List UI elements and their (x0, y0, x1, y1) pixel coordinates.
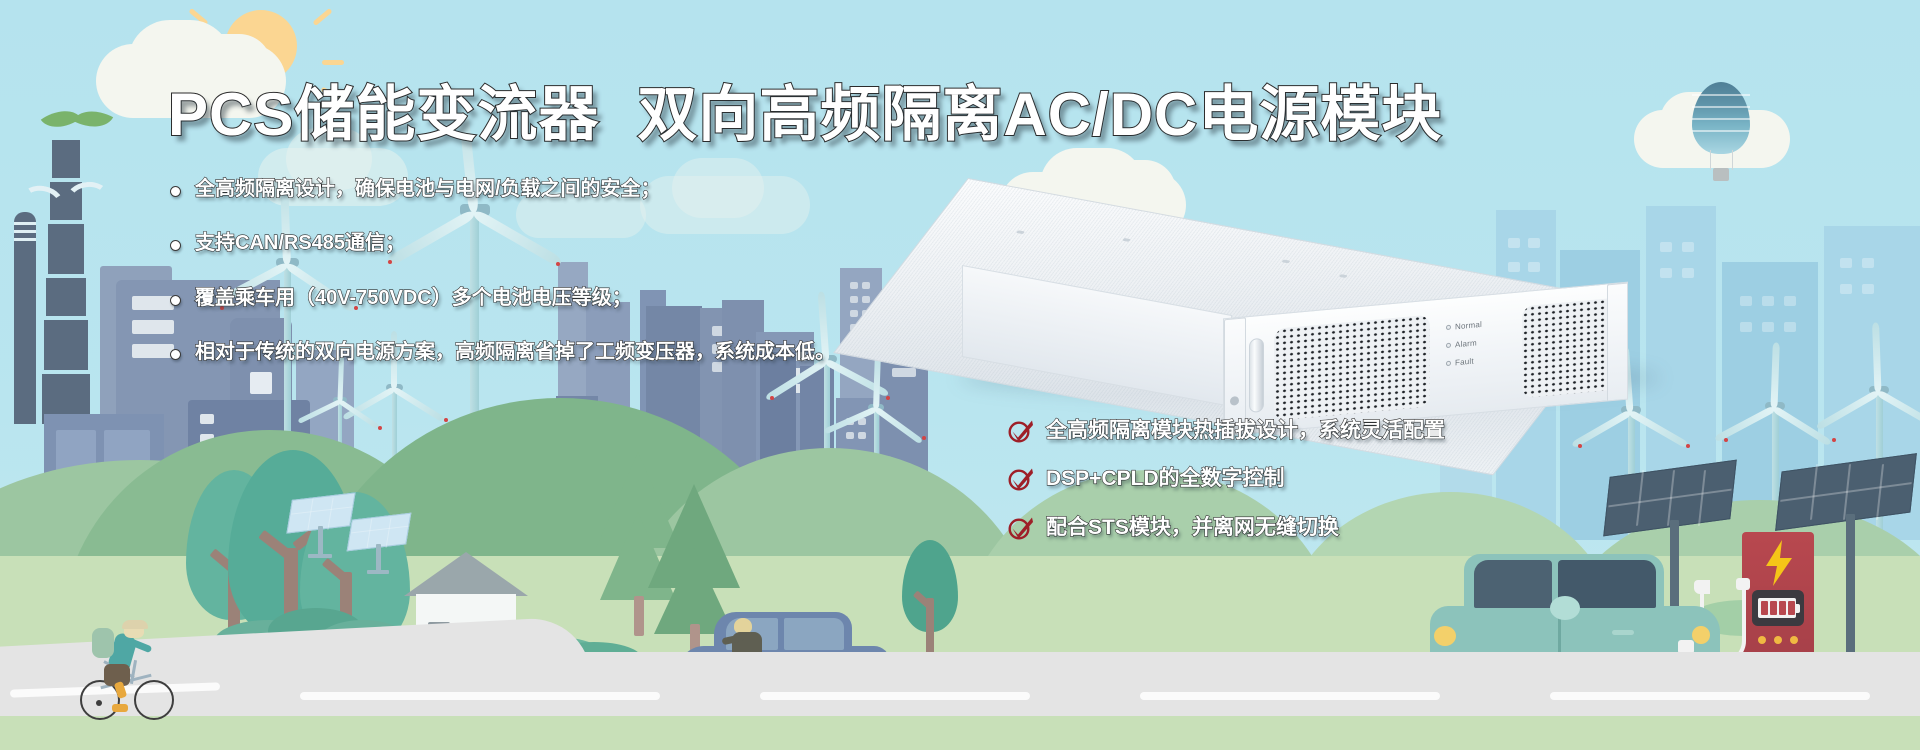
bullet-dot-icon (170, 240, 181, 251)
bullet-dot-icon (170, 349, 181, 360)
feature-list: 全高频隔离设计，确保电池与电网/负载之间的安全； 支持CAN/RS485通信； … (170, 176, 930, 366)
check-circle-icon (1008, 515, 1034, 541)
lightning-bolt-icon (1762, 540, 1796, 586)
promotional-banner: Normal Alarm Fault PCS储能变流器双向高频隔离AC/DC电源… (0, 0, 1920, 750)
check-circle-icon (1008, 418, 1034, 444)
list-item: DSP+CPLD的全数字控制 (1008, 466, 1568, 492)
list-item: 覆盖乘车用（40V-750VDC）多个电池电压等级； (170, 285, 930, 311)
bullet-dot-icon (170, 186, 181, 197)
led-indicator-alarm (1446, 343, 1451, 348)
page-title: PCS储能变流器双向高频隔离AC/DC电源模块 (168, 66, 1442, 153)
bullet-dot-icon (170, 295, 181, 306)
highlight-text: DSP+CPLD的全数字控制 (1046, 466, 1285, 492)
led-indicator-normal (1446, 325, 1451, 330)
highlight-text: 配合STS模块，并离网无缝切换 (1046, 515, 1339, 541)
feature-text: 全高频隔离设计，确保电池与电网/负载之间的安全； (195, 176, 661, 202)
led-label-fault: Fault (1455, 357, 1474, 368)
led-label-alarm: Alarm (1455, 338, 1477, 349)
check-circle-icon (1008, 466, 1034, 492)
list-item: 全高频隔离设计，确保电池与电网/负载之间的安全； (170, 176, 930, 202)
pcs-power-module-image: Normal Alarm Fault (940, 160, 1680, 430)
led-indicator-fault (1446, 361, 1451, 366)
list-item: 相对于传统的双向电源方案，高频隔离省掉了工频变压器，系统成本低。 (170, 339, 930, 365)
list-item: 全高频隔离模块热插拔设计，系统灵活配置 (1008, 418, 1568, 444)
title-part-2: 双向高频隔离AC/DC电源模块 (637, 81, 1442, 148)
highlight-list: 全高频隔离模块热插拔设计，系统灵活配置 DSP+CPLD的全数字控制 配合STS… (1008, 418, 1568, 541)
highlight-text: 全高频隔离模块热插拔设计，系统灵活配置 (1046, 418, 1445, 444)
list-item: 支持CAN/RS485通信； (170, 230, 930, 256)
led-label-normal: Normal (1455, 320, 1482, 331)
feature-text: 覆盖乘车用（40V-750VDC）多个电池电压等级； (195, 285, 632, 311)
list-item: 配合STS模块，并离网无缝切换 (1008, 515, 1568, 541)
feature-text: 支持CAN/RS485通信； (195, 230, 405, 256)
feature-text: 相对于传统的双向电源方案，高频隔离省掉了工频变压器，系统成本低。 (195, 339, 835, 365)
title-part-1: PCS储能变流器 (168, 81, 599, 148)
cyclist-icon (76, 620, 186, 730)
